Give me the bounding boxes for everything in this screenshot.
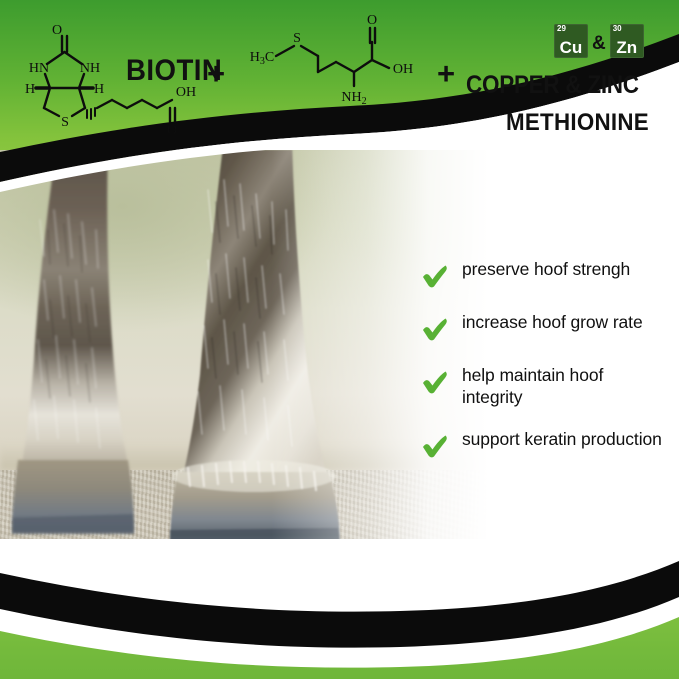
check-icon: [420, 314, 450, 344]
benefits-list: preserve hoof strengh increase hoof grow…: [420, 258, 675, 481]
ingredient-row: O HN NH H H S OH O BIOTIN +: [0, 0, 679, 152]
svg-text:H: H: [94, 82, 104, 97]
svg-text:O: O: [367, 13, 377, 28]
element-number-zn: 30: [613, 25, 622, 33]
svg-text:H3C: H3C: [250, 50, 274, 67]
benefit-item: support keratin production: [420, 428, 675, 461]
element-number-cu: 29: [557, 25, 566, 33]
svg-text:NH: NH: [80, 61, 100, 76]
benefit-text: increase hoof grow rate: [462, 311, 643, 333]
product-infographic: O HN NH H H S OH O BIOTIN +: [0, 0, 679, 679]
svg-text:NH2: NH2: [341, 90, 366, 105]
element-symbol-cu: Cu: [554, 39, 588, 56]
svg-text:O: O: [167, 123, 177, 137]
plus-symbol-1: +: [207, 58, 225, 89]
ingredient-copper-zinc: 29 Cu & 30 Zn COPPER & ZINC: [466, 24, 671, 124]
benefit-text: help maintain hoof integrity: [462, 364, 662, 408]
check-icon: [420, 261, 450, 291]
benefit-item: help maintain hoof integrity: [420, 364, 675, 408]
svg-text:OH: OH: [393, 62, 413, 77]
element-tile-zn: 30 Zn: [610, 24, 644, 58]
element-tile-cu: 29 Cu: [554, 24, 588, 58]
benefit-text: support keratin production: [462, 428, 662, 450]
element-tiles: 29 Cu & 30 Zn: [554, 24, 644, 58]
benefit-item: increase hoof grow rate: [420, 311, 675, 344]
benefit-item: preserve hoof strengh: [420, 258, 675, 291]
svg-text:H: H: [25, 82, 35, 97]
svg-text:O: O: [52, 23, 62, 38]
svg-text:S: S: [293, 31, 301, 46]
methionine-structure-icon: H3C S O OH NH2: [244, 10, 434, 105]
footer-band: [0, 539, 679, 679]
element-symbol-zn: Zn: [610, 39, 644, 56]
benefit-text: preserve hoof strengh: [462, 258, 630, 280]
ampersand-separator: &: [591, 33, 607, 55]
check-icon: [420, 367, 450, 397]
svg-text:S: S: [61, 115, 69, 130]
svg-text:HN: HN: [29, 61, 49, 76]
plus-symbol-2: +: [437, 58, 455, 89]
ingredient-methionine: H3C S O OH NH2 METHIONINE: [244, 10, 434, 140]
copper-zinc-label: COPPER & ZINC: [466, 71, 639, 100]
check-icon: [420, 431, 450, 461]
ingredient-biotin: O HN NH H H S OH O BIOTIN: [14, 12, 214, 137]
